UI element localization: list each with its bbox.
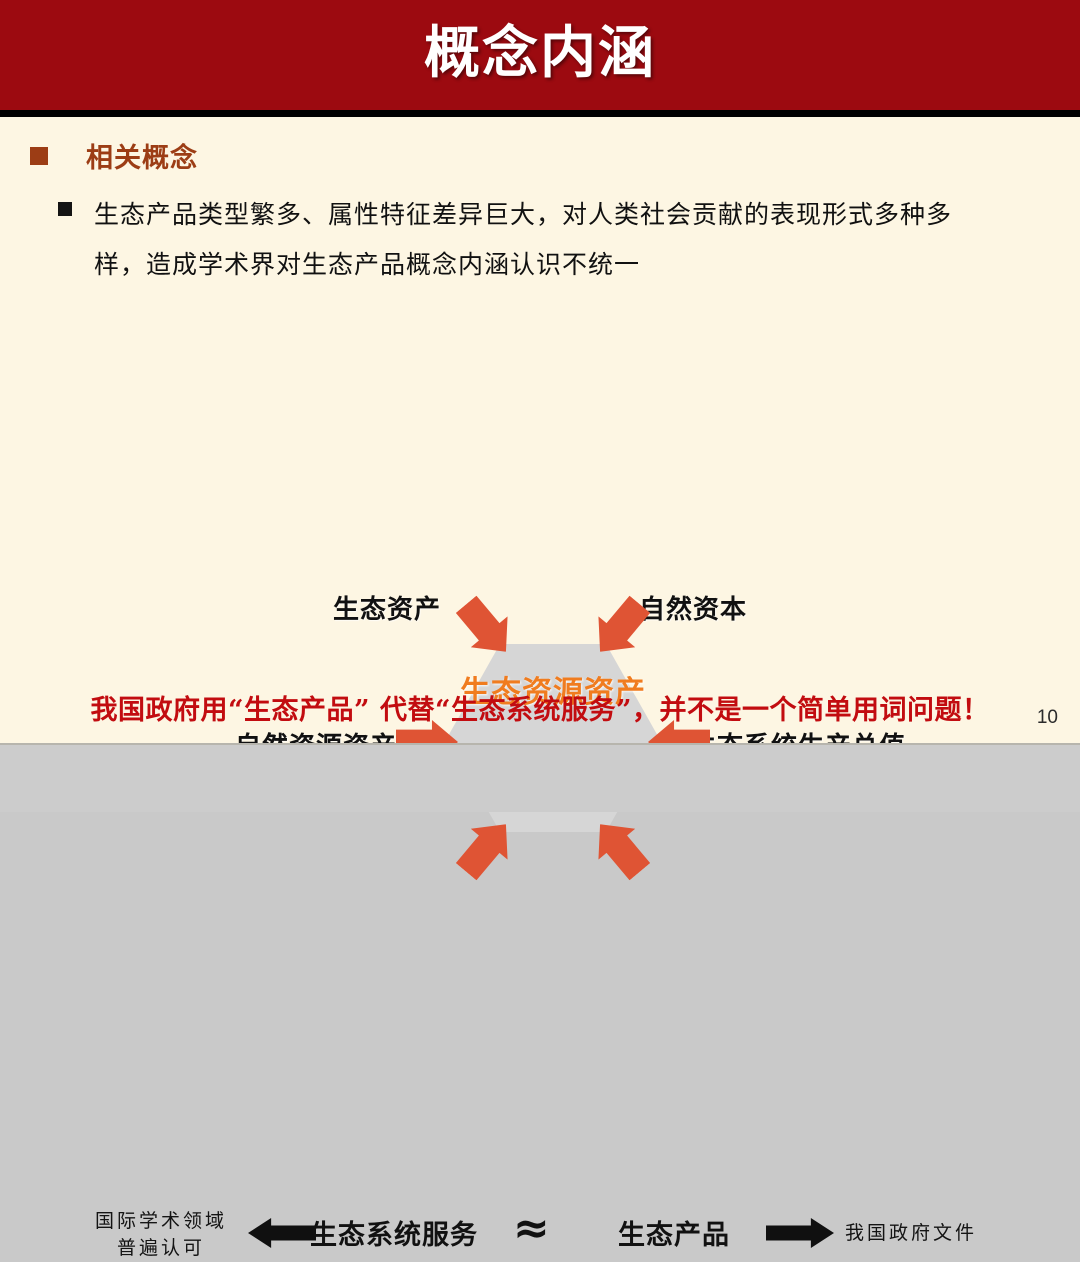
conclusion-text: 我国政府用“生态产品” 代替“生态系统服务”，并不是一个简单用词问题！ [0, 688, 1080, 727]
bullet-level2: 生态产品类型繁多、属性特征差异巨大，对人类社会贡献的表现形式多种多样，造成学术界… [58, 190, 1018, 290]
bullet-level1: 相关概念 [30, 136, 198, 175]
viewer-bottom-strip [0, 743, 1080, 812]
left-arrow-icon [248, 1218, 316, 1248]
right-arrow-icon [766, 1218, 834, 1248]
relation-left-note: 国际学术领域普遍认可 [86, 1208, 236, 1262]
bullet-level2-label: 生态产品类型繁多、属性特征差异巨大，对人类社会贡献的表现形式多种多样，造成学术界… [94, 190, 999, 290]
square-bullet-icon [30, 147, 48, 165]
header-divider [0, 110, 1080, 117]
page-title: 概念内涵 [0, 14, 1080, 94]
square-bullet-icon [58, 202, 72, 216]
hexagon-diagram: 生态资产 自然资本 自然资源资产 生态系统生产总值 生态资源资产 [0, 286, 1080, 586]
approx-symbol: ≈ [513, 1203, 550, 1254]
relation-right-note: 我国政府文件 [845, 1218, 977, 1245]
page-number: 10 [1037, 707, 1058, 729]
relation-row: 国际学术领域普遍认可 生态系统服务 ≈ 生态产品 我国政府文件 [0, 600, 1080, 662]
bullet-level1-label: 相关概念 [86, 136, 198, 175]
relation-right-term: 生态产品 [618, 1213, 730, 1252]
slide-canvas: 概念内涵 相关概念 生态产品类型繁多、属性特征差异巨大，对人类社会贡献的表现形式… [0, 0, 1080, 743]
relation-left-term: 生态系统服务 [310, 1213, 478, 1252]
